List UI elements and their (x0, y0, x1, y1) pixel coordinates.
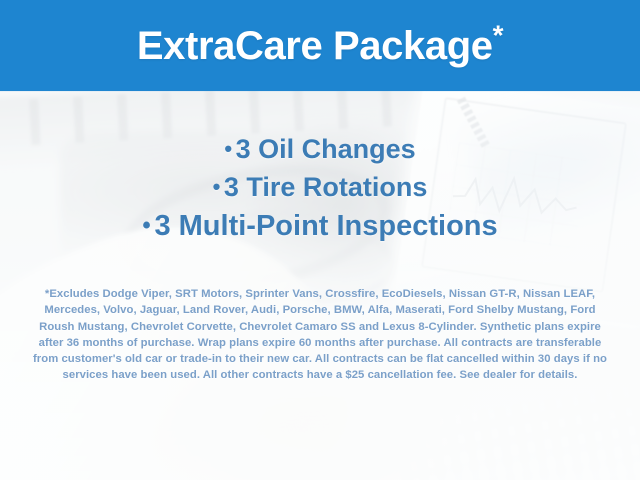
banner-bottom-edge (0, 88, 640, 92)
benefits-list: •3 Oil Changes •3 Tire Rotations •3 Mult… (0, 136, 640, 241)
header-banner: ExtraCare Package* (0, 0, 640, 91)
extracare-package-ad: ExtraCare Package* •3 Oil Changes •3 Tir… (0, 0, 640, 480)
bullet-dot-icon: • (224, 136, 232, 161)
list-item: •3 Tire Rotations (0, 174, 640, 201)
list-item-label: 3 Tire Rotations (224, 172, 428, 202)
list-item-label: 3 Oil Changes (236, 134, 416, 164)
disclaimer-text: *Excludes Dodge Viper, SRT Motors, Sprin… (28, 286, 612, 384)
bullet-dot-icon: • (213, 174, 221, 199)
list-item: •3 Oil Changes (0, 136, 640, 163)
page-title-asterisk: * (493, 19, 504, 50)
page-title: ExtraCare Package* (137, 26, 503, 66)
list-item: •3 Multi-Point Inspections (0, 212, 640, 241)
list-item-label: 3 Multi-Point Inspections (154, 210, 497, 242)
page-title-text: ExtraCare Package (137, 24, 493, 68)
bullet-dot-icon: • (142, 212, 150, 239)
